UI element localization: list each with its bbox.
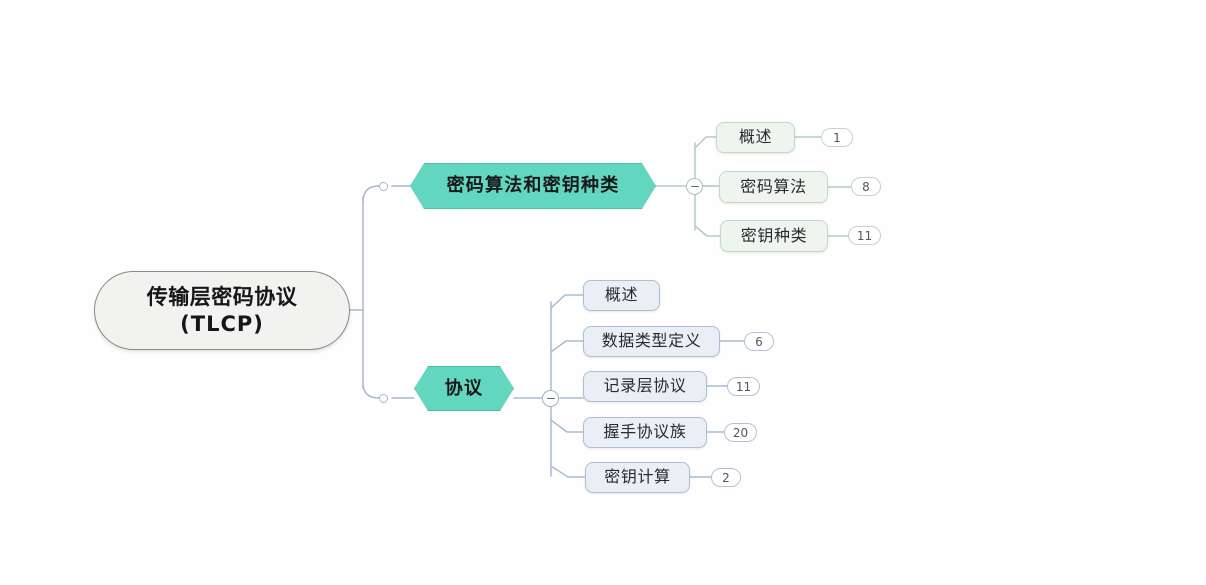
root-node-label-line1: 传输层密码协议: [147, 284, 298, 311]
collapse-toggle-branch-2[interactable]: [542, 390, 559, 407]
leaf-node-label: 概述: [739, 127, 772, 147]
branch-node-protocol[interactable]: 协议: [414, 366, 514, 411]
leaf-node-label: 密钥种类: [741, 226, 807, 246]
minus-icon: [691, 186, 699, 188]
branch-node-label: 协议: [445, 377, 483, 400]
leaf-node-cipher-algorithm[interactable]: 密码算法: [719, 171, 828, 203]
count-badge-key-calculation: 2: [711, 468, 741, 487]
count-badge-value: 11: [736, 380, 751, 394]
count-badge-value: 8: [862, 180, 870, 194]
branch-junction-dot-1[interactable]: [379, 182, 388, 191]
count-badge-value: 11: [857, 229, 872, 243]
leaf-node-label: 概述: [605, 285, 638, 305]
collapse-toggle-branch-1[interactable]: [686, 178, 703, 195]
count-badge-value: 1: [833, 131, 841, 145]
count-badge-handshake-protocol-family: 20: [724, 423, 757, 442]
leaf-node-label: 数据类型定义: [602, 331, 702, 351]
count-badge-key-types: 11: [848, 226, 881, 245]
leaf-node-handshake-protocol-family[interactable]: 握手协议族: [583, 417, 707, 448]
leaf-node-label: 记录层协议: [603, 376, 686, 396]
root-node-label-line2: (TLCP): [180, 311, 264, 338]
count-badge-record-layer-protocol: 11: [727, 377, 760, 396]
leaf-node-data-type-definition[interactable]: 数据类型定义: [583, 326, 720, 357]
branch-node-cipher-algorithms[interactable]: 密码算法和密钥种类: [410, 163, 656, 209]
count-badge-value: 2: [722, 471, 730, 485]
root-node[interactable]: 传输层密码协议 (TLCP): [94, 271, 350, 350]
leaf-node-key-types[interactable]: 密钥种类: [720, 220, 828, 252]
leaf-node-key-calculation[interactable]: 密钥计算: [585, 462, 690, 493]
branch-junction-dot-2[interactable]: [379, 394, 388, 403]
count-badge-data-type-definition: 6: [744, 332, 774, 351]
count-badge-value: 20: [733, 426, 748, 440]
leaf-node-label: 密码算法: [740, 177, 806, 197]
leaf-node-label: 握手协议族: [603, 422, 686, 442]
minus-icon: [547, 398, 555, 400]
count-badge-overview-1: 1: [821, 128, 853, 147]
leaf-node-label: 密钥计算: [604, 467, 670, 487]
count-badge-value: 6: [755, 335, 763, 349]
count-badge-cipher-algorithm: 8: [851, 177, 881, 196]
branch-node-label: 密码算法和密钥种类: [447, 174, 620, 197]
leaf-node-overview-2[interactable]: 概述: [583, 280, 660, 311]
leaf-node-record-layer-protocol[interactable]: 记录层协议: [583, 371, 707, 402]
leaf-node-overview-1[interactable]: 概述: [716, 122, 795, 153]
mindmap-canvas: 传输层密码协议 (TLCP) 密码算法和密钥种类 概述 1 密码算法 8 密钥种…: [0, 0, 1206, 585]
